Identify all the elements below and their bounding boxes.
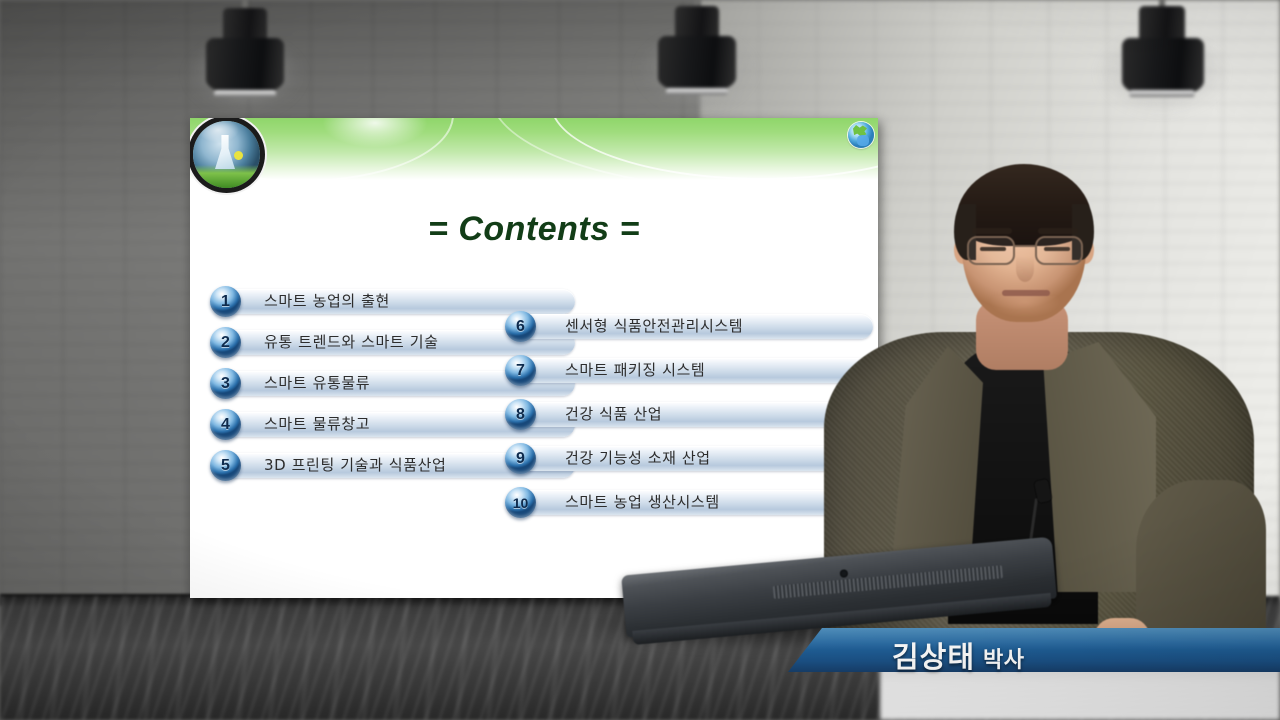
item-number-badge: 9 bbox=[505, 443, 536, 474]
item-number-badge: 3 bbox=[210, 368, 241, 399]
pendant-lamp-right bbox=[1092, 0, 1232, 118]
contents-item[interactable]: 7 스마트 패키징 시스템 bbox=[505, 355, 873, 385]
pendant-lamp-center bbox=[632, 0, 762, 114]
header-glow-decoration bbox=[300, 118, 450, 158]
contents-item[interactable]: 6 센서형 식품안전관리시스템 bbox=[505, 311, 873, 341]
item-label: 스마트 농업 생산시스템 bbox=[565, 491, 720, 512]
lamp-rim bbox=[666, 88, 728, 95]
glasses-lens-right bbox=[1035, 236, 1083, 265]
lab-flask-agriculture-logo-icon bbox=[193, 121, 260, 188]
item-label: 스마트 패키징 시스템 bbox=[565, 359, 705, 380]
presenter-name: 김상태 bbox=[892, 634, 975, 676]
presenter-eyebrow-right bbox=[1038, 228, 1078, 234]
slide-title: = Contents = bbox=[190, 210, 878, 249]
presenter-name-block: 김상태 박사 bbox=[892, 634, 1025, 668]
presenter-nose bbox=[1016, 256, 1034, 282]
lamp-shade bbox=[1122, 38, 1204, 96]
item-number-badge: 5 bbox=[210, 450, 241, 481]
banner-sheen bbox=[788, 628, 1280, 650]
item-number-badge: 4 bbox=[210, 409, 241, 440]
contents-item[interactable]: 8 건강 식품 산업 bbox=[505, 399, 873, 429]
presenter-title: 박사 bbox=[983, 642, 1024, 674]
contents-column-right: 6 센서형 식품안전관리시스템 7 스마트 패키징 시스템 8 건강 식품 산업… bbox=[505, 311, 873, 531]
lamp-shade bbox=[206, 38, 284, 94]
item-label: 센서형 식품안전관리시스템 bbox=[565, 315, 743, 336]
lamp-rim bbox=[1129, 90, 1195, 97]
item-label: 3D 프린팅 기술과 식품산업 bbox=[264, 454, 446, 475]
globe-earth-icon bbox=[848, 122, 874, 148]
header-arc-decoration bbox=[490, 118, 878, 192]
item-number-badge: 8 bbox=[505, 399, 536, 430]
lamp-shade bbox=[658, 36, 736, 92]
pendant-lamp-left bbox=[180, 0, 310, 116]
video-frame: = Contents = 1 스마트 농업의 출현 2 유통 트렌드와 스마트 … bbox=[0, 0, 1280, 720]
presenter-eyebrow-left bbox=[972, 228, 1012, 234]
item-number-badge: 1 bbox=[210, 286, 241, 317]
globe-ocean bbox=[857, 135, 869, 146]
item-label: 건강 기능성 소재 산업 bbox=[565, 447, 711, 468]
glasses-bridge bbox=[1013, 245, 1035, 247]
presentation-slide: = Contents = 1 스마트 농업의 출현 2 유통 트렌드와 스마트 … bbox=[190, 118, 878, 598]
item-number-badge: 10 bbox=[505, 487, 536, 518]
slide-header-band bbox=[190, 118, 878, 180]
item-number-badge: 7 bbox=[505, 355, 536, 386]
glasses-lens-left bbox=[967, 236, 1015, 265]
item-label: 유통 트렌드와 스마트 기술 bbox=[264, 331, 439, 352]
lamp-rim bbox=[214, 90, 276, 97]
logo-gloss bbox=[193, 121, 247, 147]
logo-drop bbox=[234, 151, 243, 160]
item-number-badge: 2 bbox=[210, 327, 241, 358]
item-number-badge: 6 bbox=[505, 311, 536, 342]
contents-item[interactable]: 10 스마트 농업 생산시스템 bbox=[505, 487, 873, 517]
item-label: 스마트 물류창고 bbox=[264, 413, 370, 434]
item-label: 건강 식품 산업 bbox=[565, 403, 662, 424]
presenter-chin bbox=[986, 296, 1064, 326]
item-label: 스마트 유통물류 bbox=[264, 372, 370, 393]
lower-third-name-banner bbox=[788, 628, 1280, 672]
item-label: 스마트 농업의 출현 bbox=[264, 290, 390, 311]
contents-item[interactable]: 9 건강 기능성 소재 산업 bbox=[505, 443, 873, 473]
presenter-arm-right bbox=[1136, 480, 1266, 640]
